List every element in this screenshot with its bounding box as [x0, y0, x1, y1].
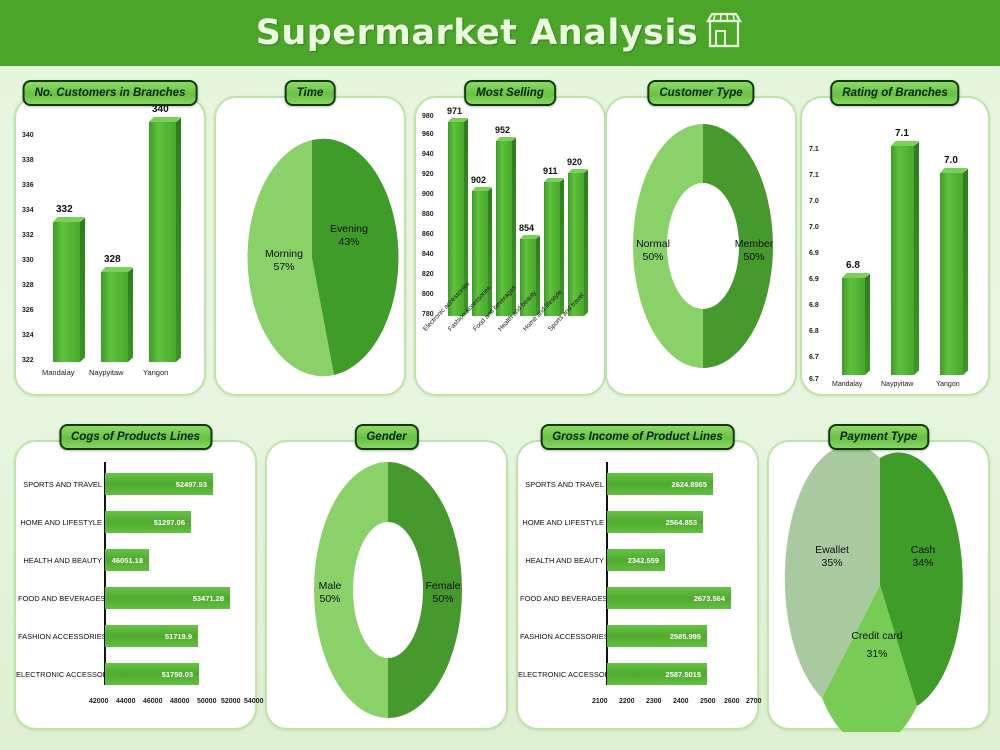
cogs-cat-5: ELECTRONIC ACCESSORIES	[16, 670, 102, 679]
gross-bar-1[interactable]: 2564.853	[607, 511, 703, 533]
chart-cogs: SPORTS AND TRAVEL 52497.93 HOME AND LIFE…	[16, 442, 255, 728]
pie-label-credit-card-text: Credit card	[851, 630, 902, 642]
cogs-cat-1: HOME AND LIFESTYLE	[18, 518, 102, 527]
gross-bar-2[interactable]: 2342.559	[607, 549, 665, 571]
panel-cogs: Cogs of Products Lines SPORTS AND TRAVEL…	[14, 440, 257, 730]
ytick: 6.8	[809, 328, 819, 335]
panel-most-selling: Most Selling 780 800 820 840 860 880 900…	[414, 96, 606, 396]
panel-customer-type: Customer Type Normal 50% Member 50%	[605, 96, 797, 396]
panel-customers-in-branches: No. Customers in Branches 322 324 326 32…	[14, 96, 206, 396]
pie-label-ewallet: Ewallet 35%	[797, 544, 867, 570]
pie-label-morning-value: 57%	[273, 261, 294, 273]
cogs-xtick-4: 50000	[197, 698, 216, 705]
panel-title-rating: Rating of Branches	[830, 80, 959, 106]
donut-label-female-text: Female	[425, 580, 460, 592]
gross-xtick-4: 2500	[700, 698, 716, 705]
chart-payment-type-pie: Ewallet 35% Cash 34% Credit card 31%	[769, 442, 988, 728]
payment-pie-svg[interactable]	[769, 442, 992, 732]
donut-label-member-value: 50%	[743, 251, 764, 263]
cogs-xtick-6: 54000	[244, 698, 263, 705]
donut-label-member: Member 50%	[724, 238, 784, 264]
bar-yangon[interactable]	[149, 122, 176, 362]
ytick: 940	[422, 151, 434, 158]
chart-most-selling: 780 800 820 840 860 880 900 920 940 960 …	[416, 98, 604, 394]
panel-title-gender: Gender	[354, 424, 418, 450]
ytick: 332	[22, 232, 34, 239]
gross-xtick-1: 2200	[619, 698, 635, 705]
bar-rating-naypyitaw[interactable]	[891, 146, 914, 375]
pie-label-ewallet-value: 35%	[821, 557, 842, 569]
ytick: 840	[422, 251, 434, 258]
gross-xtick-2: 2300	[646, 698, 662, 705]
ytick: 7.1	[809, 146, 819, 153]
ytick: 334	[22, 207, 34, 214]
panel-title-payment-type: Payment Type	[828, 424, 930, 450]
gross-cat-1: HOME AND LIFESTYLE	[520, 518, 604, 527]
cogs-bar-0[interactable]: 52497.93	[105, 473, 213, 495]
donut-label-normal-value: 50%	[642, 251, 663, 263]
cogs-xtick-1: 44000	[116, 698, 135, 705]
donut-label-male-text: Male	[319, 580, 342, 592]
ytick: 900	[422, 191, 434, 198]
gross-xtick-5: 2600	[724, 698, 740, 705]
ytick: 6.7	[809, 354, 819, 361]
ytick: 960	[422, 131, 434, 138]
panel-title-customers: No. Customers in Branches	[23, 80, 198, 106]
donut-label-female-value: 50%	[432, 593, 453, 605]
ytick: 6.9	[809, 250, 819, 257]
donut-label-normal: Normal 50%	[623, 238, 683, 264]
cogs-xtick-3: 48000	[170, 698, 189, 705]
xtick-rating-mandalay: Mandalay	[832, 381, 862, 388]
bar-value-rating-mandalay: 6.8	[846, 260, 860, 271]
cogs-xtick-2: 46000	[143, 698, 162, 705]
bar-value-4: 911	[543, 166, 558, 176]
page-title: Supermarket Analysis	[256, 13, 699, 53]
donut-label-male-value: 50%	[319, 593, 340, 605]
ytick: 324	[22, 332, 34, 339]
cogs-xtick-5: 52000	[221, 698, 240, 705]
bar-value-5: 920	[567, 157, 582, 167]
panel-title-customer-type: Customer Type	[647, 80, 754, 106]
gross-axis-line	[606, 462, 608, 685]
dashboard-root: Supermarket Analysis No. Customers in Br…	[0, 0, 1000, 750]
pie-label-cash: Cash 34%	[891, 544, 955, 570]
panel-title-gross-income: Gross Income of Product Lines	[540, 424, 735, 450]
ytick: 6.9	[809, 276, 819, 283]
chart-customers-in-branches: 322 324 326 328 330 332 334 336 338 340 …	[16, 98, 204, 394]
donut-label-male: Male 50%	[300, 580, 360, 606]
bar-value-mandalay: 332	[56, 204, 73, 215]
pie-label-cash-value: 34%	[912, 557, 933, 569]
gross-bar-0[interactable]: 2624.8965	[607, 473, 713, 495]
cogs-xtick-0: 42000	[89, 698, 108, 705]
ytick: 340	[22, 132, 34, 139]
chart-customer-type-donut: Normal 50% Member 50%	[607, 98, 795, 394]
donut-label-member-text: Member	[735, 238, 774, 250]
cogs-bar-4[interactable]: 51719.9	[105, 625, 198, 647]
cogs-bar-1[interactable]: 51297.06	[105, 511, 191, 533]
ytick: 326	[22, 307, 34, 314]
chart-rating-of-branches: 7.1 7.1 7.0 7.0 6.9 6.9 6.8 6.8 6.7 6.7 …	[802, 98, 988, 394]
ytick: 330	[22, 257, 34, 264]
cogs-axis-line	[104, 462, 106, 685]
bar-value-0: 971	[447, 106, 462, 116]
pie-label-credit-card: Credit card 31%	[845, 627, 909, 663]
ytick: 800	[422, 291, 434, 298]
bar-value-3: 854	[519, 223, 534, 233]
ytick: 7.0	[809, 224, 819, 231]
ytick: 328	[22, 282, 34, 289]
pie-label-evening-text: Evening	[330, 223, 368, 235]
xtick-naypyitaw: Naypyitaw	[89, 368, 124, 377]
ytick: 920	[422, 171, 434, 178]
cogs-bar-2[interactable]: 46051.18	[105, 549, 149, 571]
donut-label-normal-text: Normal	[636, 238, 670, 250]
ytick: 880	[422, 211, 434, 218]
cogs-cat-3: FOOD AND BEVERAGES	[18, 594, 102, 603]
pie-label-cash-text: Cash	[911, 544, 936, 556]
ytick: 7.1	[809, 172, 819, 179]
ytick: 860	[422, 231, 434, 238]
chart-gross-income: SPORTS AND TRAVEL 2624.8965 HOME AND LIF…	[518, 442, 757, 728]
bar-value-1: 902	[471, 175, 486, 185]
panel-title-time: Time	[285, 80, 336, 106]
bar-rating-yangon[interactable]	[940, 173, 963, 375]
xtick-mandalay: Mandalay	[42, 368, 75, 377]
xtick-rating-naypyitaw: Naypyitaw	[881, 381, 913, 388]
bar-naypyitaw[interactable]	[101, 272, 128, 362]
gross-xtick-0: 2100	[592, 698, 608, 705]
store-icon	[704, 11, 744, 56]
gross-cat-5: ELECTRONIC ACCESSORIES	[518, 670, 604, 679]
panel-gender: Gender Male 50% Female 50%	[265, 440, 508, 730]
dashboard-header: Supermarket Analysis	[0, 0, 1000, 66]
gross-xtick-3: 2400	[673, 698, 689, 705]
ytick: 980	[422, 113, 434, 120]
panel-rating-of-branches: Rating of Branches 7.1 7.1 7.0 7.0 6.9 6…	[800, 96, 990, 396]
chart-gender-donut: Male 50% Female 50%	[267, 442, 506, 728]
bar-value-naypyitaw: 328	[104, 254, 121, 265]
gross-cat-4: FASHION ACCESSORIES	[520, 632, 604, 641]
panel-payment-type: Payment Type Ewallet 35% Cash 34%	[767, 440, 990, 730]
xtick-rating-yangon: Yangon	[936, 381, 960, 388]
cogs-cat-2: HEALTH AND BEAUTY	[18, 556, 102, 565]
donut-label-female: Female 50%	[411, 580, 475, 606]
bar-value-rating-yangon: 7.0	[944, 155, 958, 166]
cogs-bar-3[interactable]: 53471.28	[105, 587, 230, 609]
xtick-yangon: Yangon	[143, 368, 168, 377]
panel-title-most-selling: Most Selling	[464, 80, 556, 106]
cogs-bar-5[interactable]: 51750.03	[105, 663, 199, 685]
gross-bar-4[interactable]: 2585.995	[607, 625, 707, 647]
ytick: 322	[22, 357, 34, 364]
panel-gross-income: Gross Income of Product Lines SPORTS AND…	[516, 440, 759, 730]
ytick: 820	[422, 271, 434, 278]
bar-mandalay[interactable]	[53, 222, 80, 362]
cogs-cat-0: SPORTS AND TRAVEL	[18, 480, 102, 489]
bar-value-2: 952	[495, 125, 510, 135]
pie-label-credit-card-value: 31%	[866, 648, 887, 660]
gross-cat-2: HEALTH AND BEAUTY	[520, 556, 604, 565]
ytick: 6.8	[809, 302, 819, 309]
ytick: 336	[22, 182, 34, 189]
pie-label-ewallet-text: Ewallet	[815, 544, 849, 556]
bar-value-rating-naypyitaw: 7.1	[895, 128, 909, 139]
gross-cat-0: SPORTS AND TRAVEL	[520, 480, 604, 489]
gross-cat-3: FOOD AND BEVERAGES	[520, 594, 604, 603]
gross-bar-5[interactable]: 2587.5015	[607, 663, 707, 685]
ytick: 338	[22, 157, 34, 164]
cogs-cat-4: FASHION ACCESSORIES	[18, 632, 102, 641]
gross-bar-3[interactable]: 2673.564	[607, 587, 731, 609]
panel-title-cogs: Cogs of Products Lines	[59, 424, 212, 450]
chart-time-pie: Morning 57% Evening 43%	[216, 98, 404, 394]
ytick: 7.0	[809, 198, 819, 205]
ytick: 6.7	[809, 376, 819, 383]
panel-time: Time Morning 57% Evening 43%	[214, 96, 406, 396]
pie-label-evening: Evening 43%	[319, 223, 379, 249]
gross-xtick-6: 2700	[746, 698, 762, 705]
pie-label-evening-value: 43%	[338, 236, 359, 248]
pie-label-morning-text: Morning	[265, 248, 303, 260]
pie-label-morning: Morning 57%	[254, 248, 314, 274]
bar-rating-mandalay[interactable]	[842, 278, 865, 375]
